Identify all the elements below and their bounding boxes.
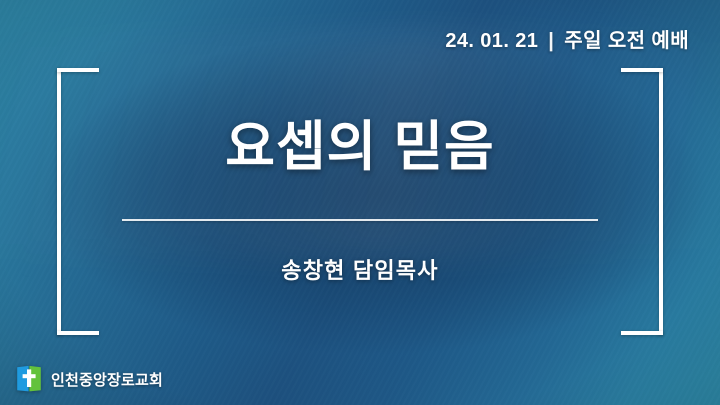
church-logo-lockup: 인천중앙장로교회 — [16, 365, 163, 393]
header-service-info: 24. 01. 21 | 주일 오전 예배 — [445, 24, 689, 53]
church-door-cross-icon — [16, 365, 42, 393]
speaker-name: 송창현 담임목사 — [281, 253, 438, 285]
sermon-title-slide: 24. 01. 21 | 주일 오전 예배 요셉의 믿음 송창현 담임목사 인천… — [0, 0, 720, 405]
church-name: 인천중앙장로교회 — [51, 369, 163, 390]
title-divider — [122, 219, 598, 221]
header-separator: | — [547, 30, 555, 53]
service-date: 24. 01. 21 — [445, 30, 538, 53]
service-name: 주일 오전 예배 — [564, 24, 689, 53]
page-title: 요셉의 믿음 — [225, 118, 494, 180]
slide-content: 요셉의 믿음 송창현 담임목사 — [57, 68, 663, 335]
